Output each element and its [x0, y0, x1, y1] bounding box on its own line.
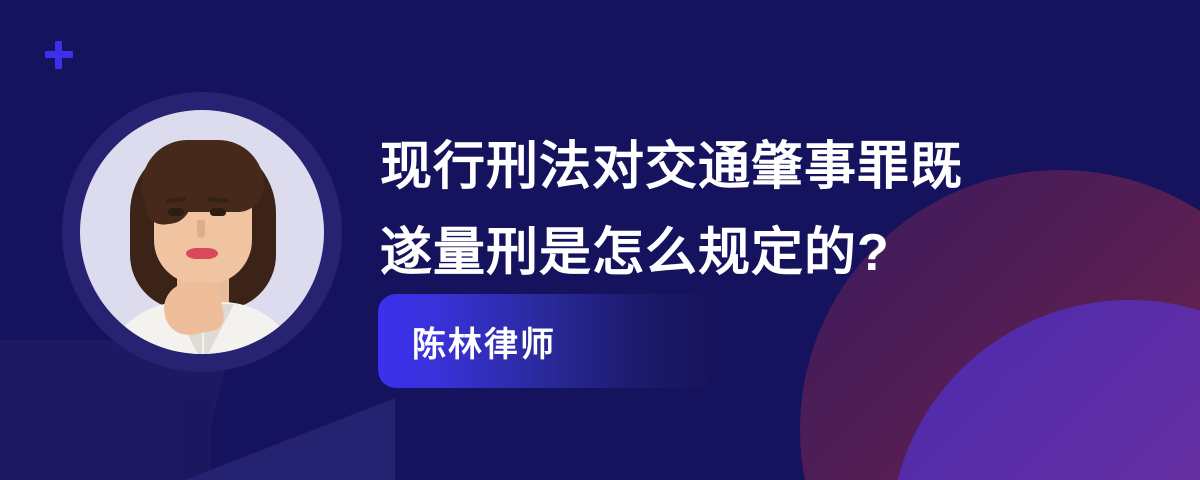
- portrait-lips: [186, 248, 218, 259]
- portrait-eye-left: [168, 208, 184, 216]
- portrait-nose: [197, 220, 205, 238]
- lawyer-name-button[interactable]: 陈林律师: [378, 294, 712, 388]
- portrait-illustration: [80, 110, 324, 354]
- plus-icon: [44, 40, 74, 70]
- lawyer-name-label: 陈林律师: [412, 317, 556, 366]
- lawyer-qa-banner: 现行刑法对交通肇事罪既 遂量刑是怎么规定的? 陈林律师: [0, 0, 1200, 480]
- avatar-photo: [80, 110, 324, 354]
- polygon-shape-triangle: [185, 398, 395, 480]
- avatar: [62, 92, 342, 372]
- portrait-eye-right: [210, 208, 226, 216]
- polygon-shape-column: [185, 398, 211, 480]
- purple-circle-decoration: [890, 300, 1200, 480]
- question-headline: 现行刑法对交通肇事罪既 遂量刑是怎么规定的?: [380, 124, 1080, 296]
